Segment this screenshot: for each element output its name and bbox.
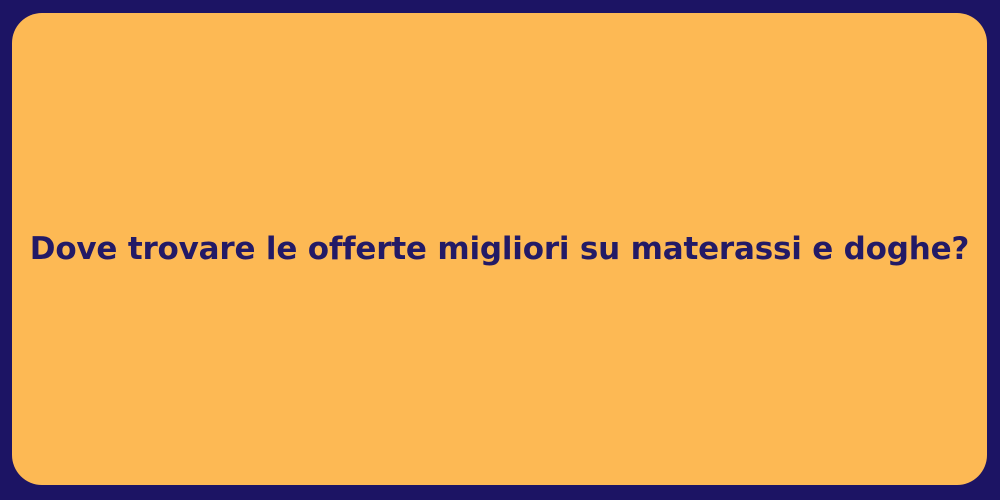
banner-frame: Dove trovare le offerte migliori su mate…	[0, 0, 1000, 500]
page-title: Dove trovare le offerte migliori su mate…	[12, 230, 987, 269]
banner-card: Dove trovare le offerte migliori su mate…	[12, 13, 987, 485]
